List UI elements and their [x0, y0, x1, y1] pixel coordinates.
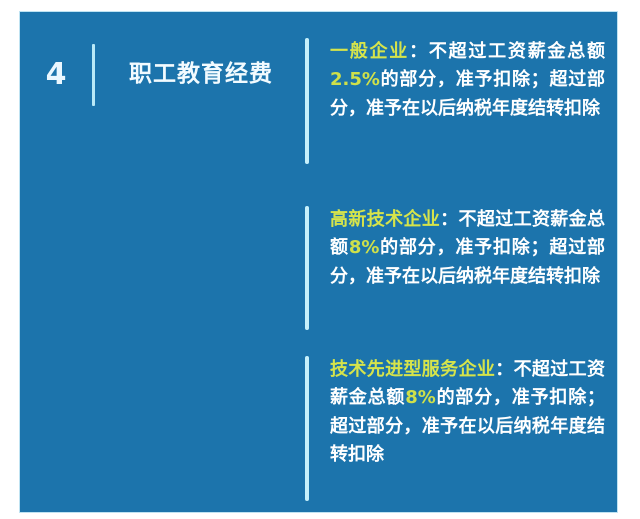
rule-colon: ： — [440, 209, 458, 230]
rule-body-before-rate: 不超过工资薪金总额 — [429, 41, 605, 62]
rule-block: 技术先进型服务企业：不超过工资薪金总额8%的部分，准予扣除；超过部分，准予在以后… — [305, 356, 605, 506]
section-index-number: 4 — [20, 60, 92, 90]
accent-bar-icon — [305, 356, 309, 501]
rule-block-text: 高新技术企业：不超过工资薪金总额8%的部分，准予扣除；超过部分，准予在以后纳税年… — [330, 206, 605, 291]
rule-category-label: 一般企业 — [330, 41, 409, 62]
rule-colon: ： — [409, 41, 429, 62]
content-panel: 4 职工教育经费 一般企业：不超过工资薪金总额2.5%的部分，准予扣除；超过部分… — [20, 12, 617, 512]
rule-category-label: 高新技术企业 — [330, 209, 440, 230]
rule-category-label: 技术先进型服务企业 — [330, 359, 495, 380]
accent-bar-icon — [305, 38, 309, 164]
rule-rate-value: 2.5% — [330, 69, 380, 90]
rule-block-list: 一般企业：不超过工资薪金总额2.5%的部分，准予扣除；超过部分，准予在以后纳税年… — [305, 12, 617, 512]
accent-bar-icon — [305, 206, 309, 330]
section-header: 4 职工教育经费 — [20, 30, 305, 120]
slide-root: 4 职工教育经费 一般企业：不超过工资薪金总额2.5%的部分，准予扣除；超过部分… — [0, 0, 640, 519]
rule-block: 一般企业：不超过工资薪金总额2.5%的部分，准予扣除；超过部分，准予在以后纳税年… — [305, 38, 605, 172]
vertical-divider-icon — [92, 44, 95, 106]
page-title: 职工教育经费 — [129, 61, 273, 89]
rule-block-text: 技术先进型服务企业：不超过工资薪金总额8%的部分，准予扣除；超过部分，准予在以后… — [330, 356, 605, 470]
rule-block-text: 一般企业：不超过工资薪金总额2.5%的部分，准予扣除；超过部分，准予在以后纳税年… — [330, 38, 605, 123]
rule-colon: ： — [495, 359, 513, 380]
rule-block: 高新技术企业：不超过工资薪金总额8%的部分，准予扣除；超过部分，准予在以后纳税年… — [305, 206, 605, 336]
rule-rate-value: 8% — [405, 387, 436, 408]
rule-rate-value: 8% — [349, 237, 380, 258]
